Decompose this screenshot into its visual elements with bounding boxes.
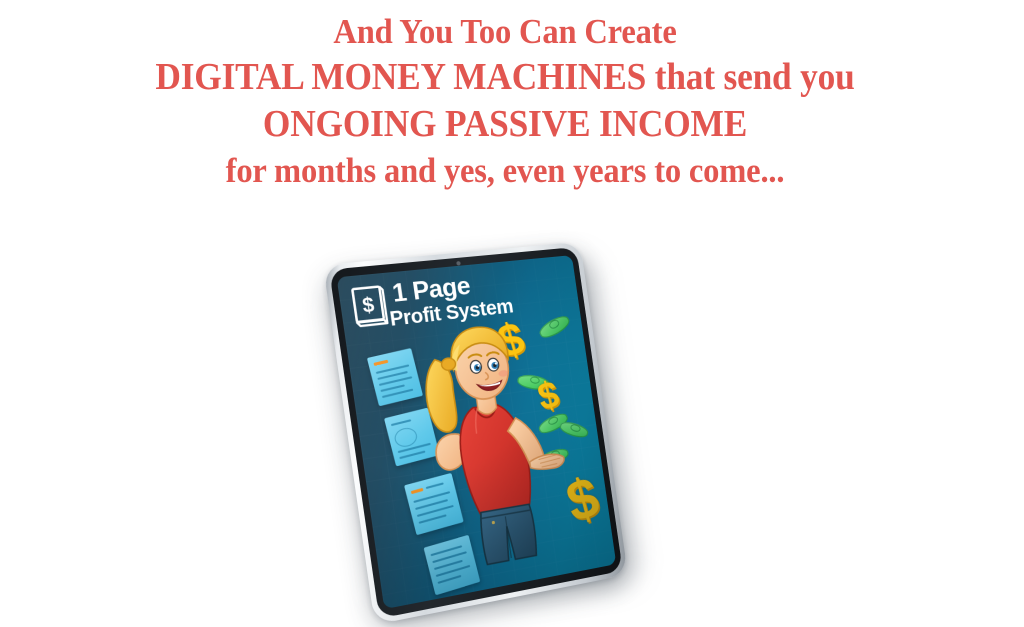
character-illustration <box>397 303 579 581</box>
headline-line-4: for months and yes, even years to come..… <box>35 153 974 188</box>
headline-block: And You Too Can Create DIGITAL MONEY MAC… <box>35 14 974 188</box>
dollar-bill-icon <box>559 419 590 439</box>
product-logo-text: 1 Page Profit System <box>391 269 515 330</box>
headline-line-2: DIGITAL MONEY MACHINES that send you <box>35 58 974 96</box>
tablet-device: $ 1 Page Profit System <box>323 242 628 625</box>
svg-text:$: $ <box>361 294 376 318</box>
headline-line-3: ONGOING PASSIVE INCOME <box>35 105 974 143</box>
headline-line-1: And You Too Can Create <box>35 14 974 49</box>
book-dollar-icon: $ <box>350 284 391 331</box>
character-description: smiling blonde cartoon woman with ponyta… <box>0 0 1 1</box>
tablet-screen: $ 1 Page Profit System <box>337 255 617 609</box>
tablet-product-image: $ 1 Page Profit System <box>344 248 634 614</box>
front-camera-icon <box>456 262 459 265</box>
